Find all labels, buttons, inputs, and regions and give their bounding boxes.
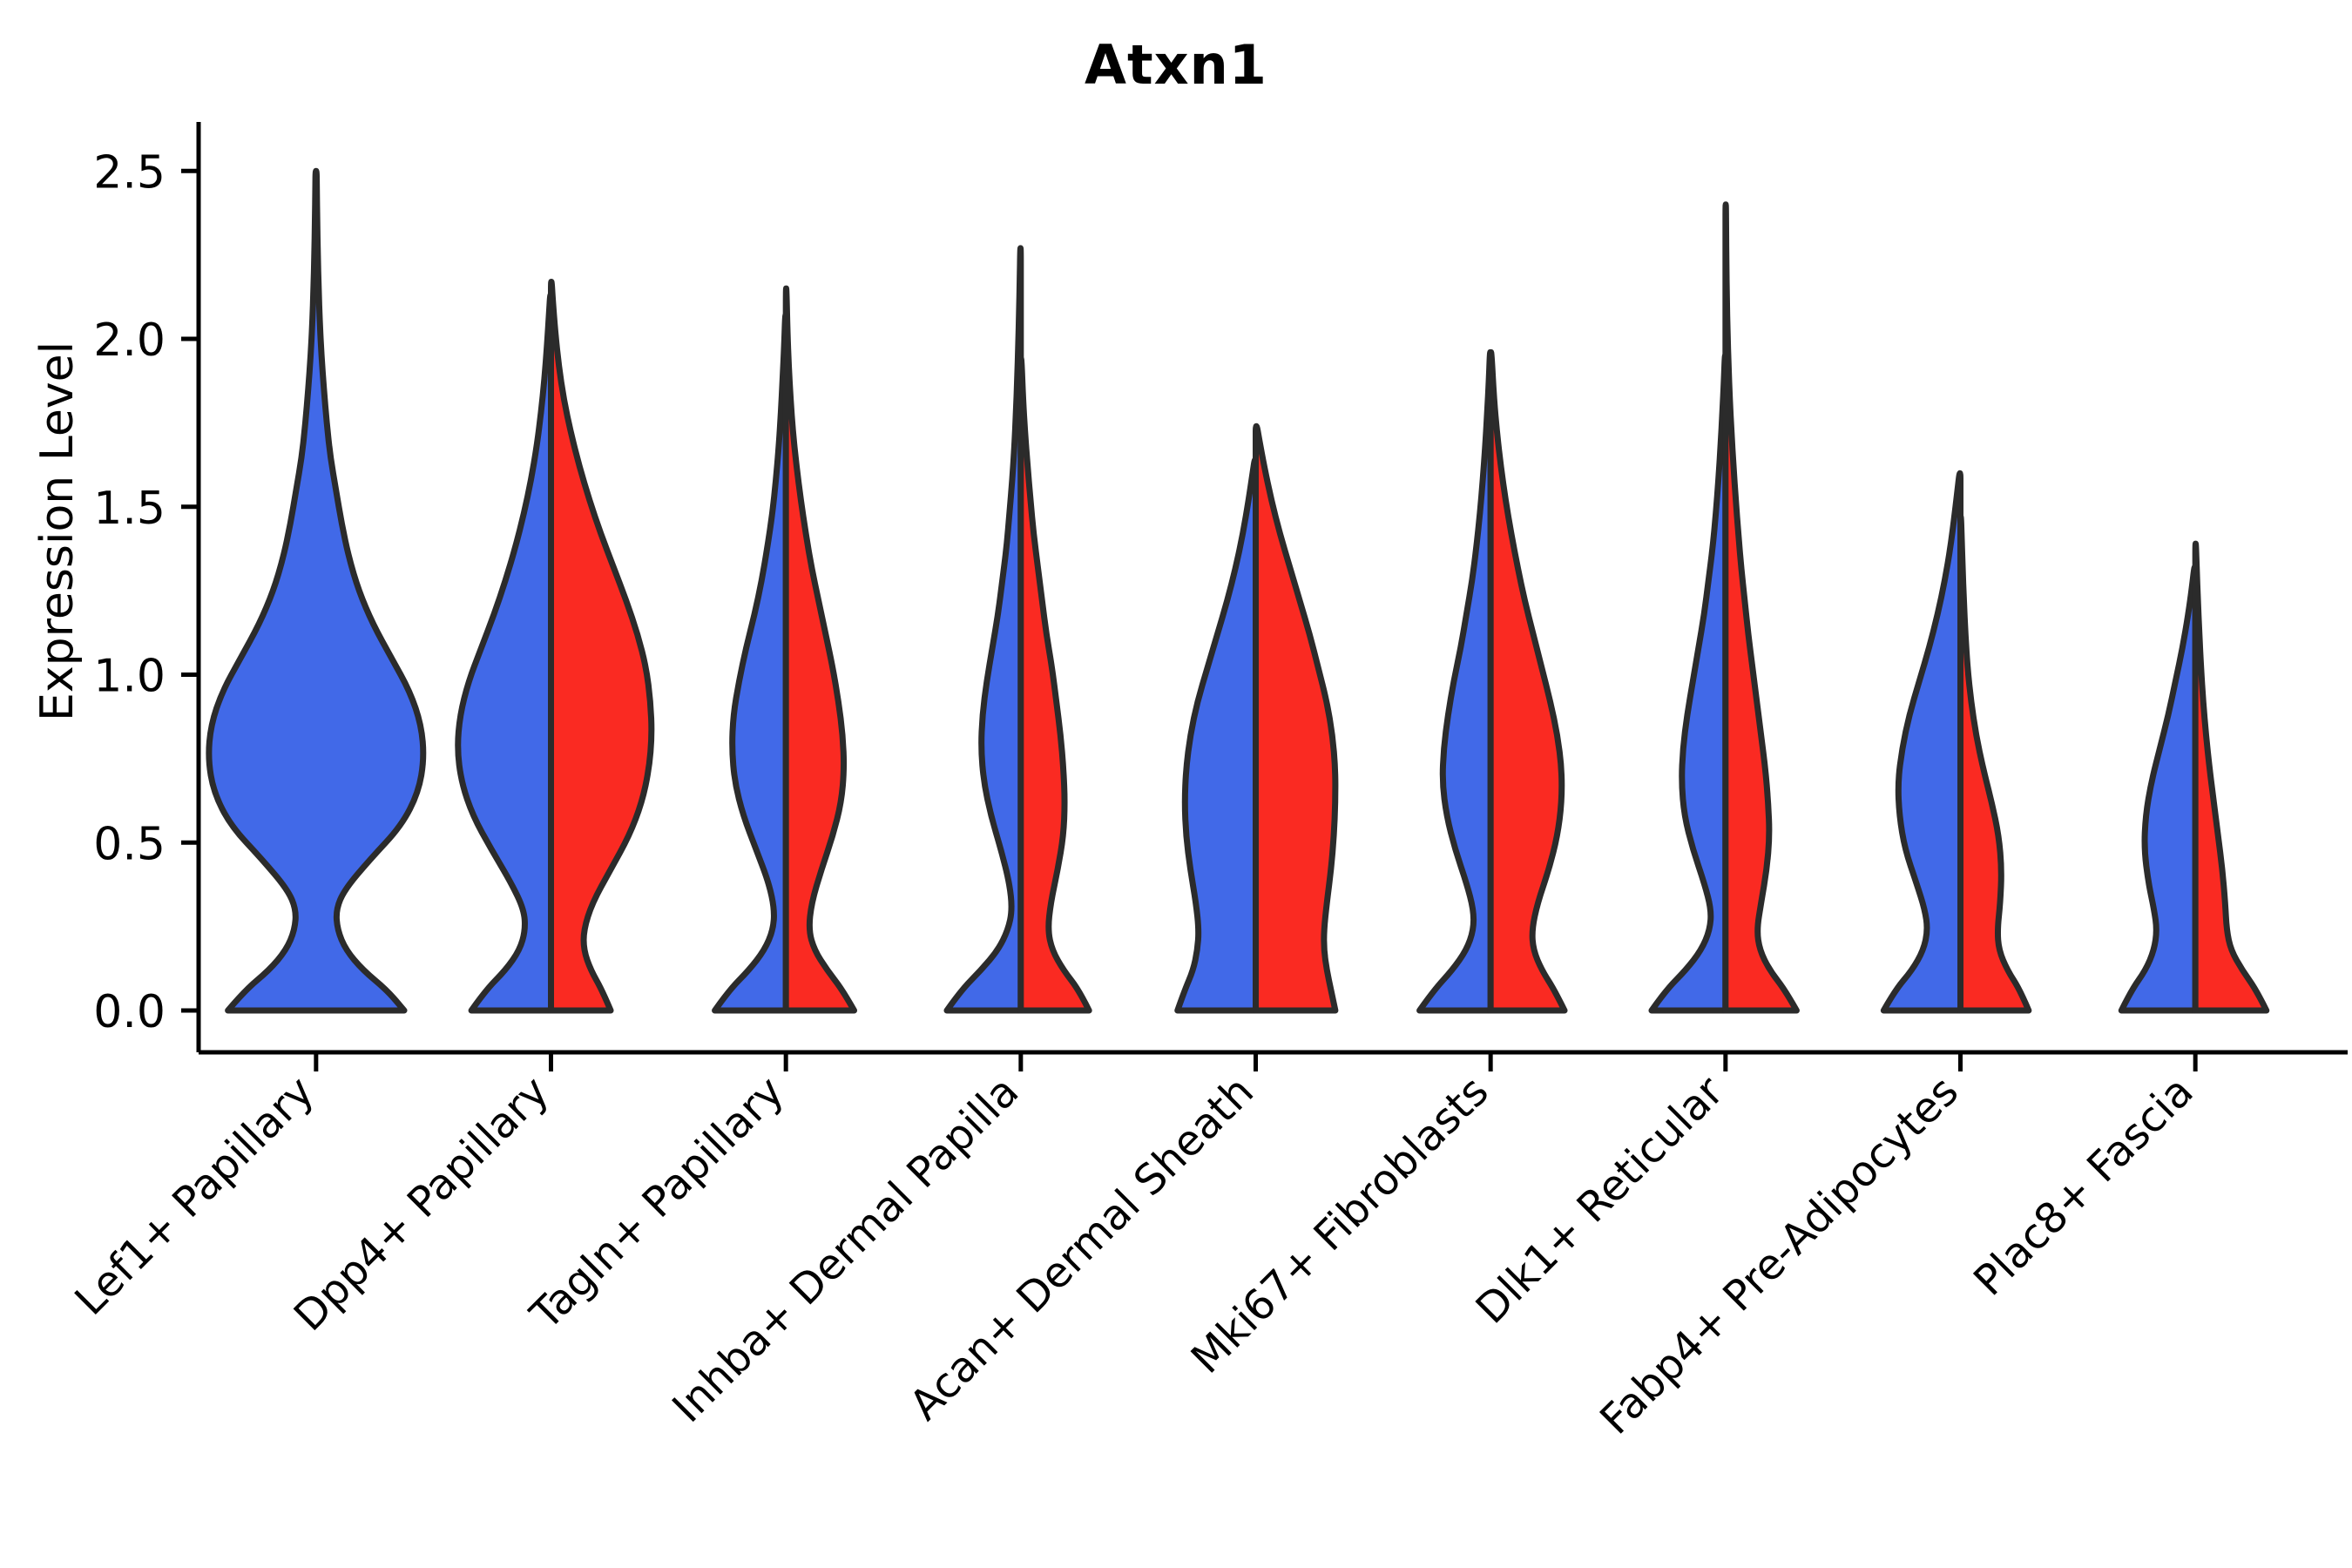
- x-tick-label-group[interactable]: Lef1+ Papillary: [65, 1067, 323, 1325]
- x-tick-label-9[interactable]: Plac8+ Fascia: [1964, 1067, 2203, 1306]
- violin-group_a-6[interactable]: [1420, 352, 1491, 1010]
- x-tick-label-2[interactable]: Dpp4+ Papillary: [285, 1067, 558, 1341]
- x-ticks-layer: Lef1+ PapillaryDpp4+ PapillaryTagIn+ Pap…: [65, 1052, 2202, 1444]
- violin-group_a-7[interactable]: [1652, 355, 1726, 1010]
- violin-group_b-2[interactable]: [551, 281, 652, 1010]
- violin-plot-figure: Atxn1 Expression Level 0.00.51.01.52.02.…: [0, 0, 2352, 1568]
- violin-group_b-6[interactable]: [1490, 352, 1565, 1010]
- y-tick-label: 1.0: [93, 651, 166, 703]
- violin-group_a-5[interactable]: [1178, 460, 1256, 1010]
- violin-group_a-1[interactable]: [209, 171, 423, 1010]
- x-tick-label-group[interactable]: TagIn+ Papillary: [521, 1067, 794, 1340]
- plot-canvas: 0.00.51.01.52.02.5 Lef1+ PapillaryDpp4+ …: [0, 0, 2352, 1568]
- x-tick-label-1[interactable]: Lef1+ Papillary: [65, 1067, 323, 1325]
- violin-group_a-2[interactable]: [458, 295, 551, 1010]
- y-ticks-layer: 0.00.51.01.52.02.5: [93, 146, 199, 1038]
- y-tick-label: 2.5: [93, 146, 166, 199]
- violin-group_b-8[interactable]: [1961, 517, 2029, 1010]
- violin-group_b-9[interactable]: [2195, 544, 2267, 1010]
- violin-group_a-9[interactable]: [2121, 567, 2195, 1010]
- x-tick-label-group[interactable]: Plac8+ Fascia: [1964, 1067, 2203, 1306]
- violin-group_b-3[interactable]: [786, 288, 854, 1010]
- y-tick-label: 2.0: [93, 314, 166, 367]
- violin-group_b-5[interactable]: [1256, 426, 1335, 1010]
- x-tick-label-7[interactable]: Dlk1+ Reticular: [1467, 1067, 1734, 1334]
- y-tick-label: 0.5: [93, 818, 166, 870]
- x-tick-label-group[interactable]: Dlk1+ Reticular: [1467, 1067, 1734, 1334]
- x-tick-label-3[interactable]: TagIn+ Papillary: [521, 1067, 794, 1340]
- y-tick-label: 1.5: [93, 483, 166, 535]
- violin-group_b-4[interactable]: [1021, 359, 1089, 1010]
- violin-group_b-7[interactable]: [1726, 205, 1797, 1010]
- violins-layer: [209, 171, 2267, 1010]
- violin-group_a-8[interactable]: [1883, 473, 1960, 1010]
- violin-group_a-4[interactable]: [947, 248, 1021, 1010]
- x-tick-label-group[interactable]: Dpp4+ Papillary: [285, 1067, 558, 1341]
- y-tick-label: 0.0: [93, 986, 166, 1038]
- violin-group_a-3[interactable]: [715, 315, 787, 1010]
